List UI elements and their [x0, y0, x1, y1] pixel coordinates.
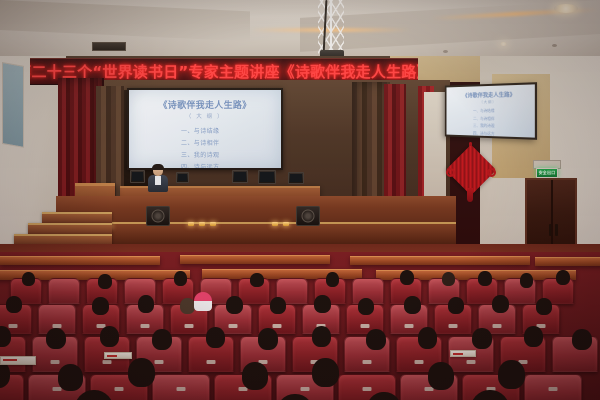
slide-subtitle: （大纲）: [447, 99, 535, 105]
stage-curtain-right: [384, 84, 406, 204]
monitor-screen: [178, 174, 187, 181]
list-item: 四、诗与远方: [181, 162, 219, 168]
slide-title: 《诗歌伴我走人生路》: [129, 98, 281, 111]
monitor-screen: [132, 172, 143, 181]
downlight: [554, 4, 578, 13]
monitor-screen: [260, 172, 274, 182]
lift-post: [330, 0, 332, 56]
monitor-screen: [290, 174, 302, 182]
wall-left-panel: [2, 62, 24, 148]
smoke-detector-icon: [552, 44, 557, 47]
projection-screen-surface: 《诗歌伴我走人生路》 （ 大 纲 ） 一、与诗结缘 二、与诗相伴 三、我的诗观 …: [129, 90, 281, 168]
slide-subtitle: （ 大 纲 ）: [129, 112, 281, 120]
desk-monitor: [176, 172, 189, 183]
chinese-knot-icon: [446, 142, 496, 204]
seated-lecturer: [147, 165, 169, 191]
list-item: 一、与诗结缘: [473, 108, 495, 114]
emergency-exit-sign: 安全出口: [536, 168, 558, 178]
secondary-wall-display: 《诗歌伴我走人生路》 （大纲） 一、与诗结缘 二、与诗相伴 三、我的诗观 四、诗…: [445, 82, 537, 140]
slide-outline-list: 一、与诗结缘 二、与诗相伴 三、我的诗观 四、诗与远方: [181, 126, 219, 168]
air-vent: [92, 42, 126, 51]
knot-tassel: [467, 188, 473, 202]
stage-side-wall-opening: [424, 92, 446, 198]
stage-monitor-speaker: [296, 206, 320, 226]
desk-monitor: [258, 170, 276, 184]
list-item: 三、我的诗观: [181, 150, 219, 159]
stage-footlight: [283, 222, 289, 226]
desk-row: [535, 257, 600, 266]
seat[interactable]: [152, 374, 210, 400]
desk-row: [350, 256, 530, 265]
speaker-cone-icon: [152, 210, 165, 223]
step: [28, 223, 112, 234]
open-notebook: [104, 352, 132, 359]
slide-title: 《诗歌伴我走人生路》: [447, 90, 535, 100]
downlight: [500, 42, 507, 46]
open-notebook: [450, 350, 476, 357]
audience-seating-area: [0, 252, 600, 400]
seat[interactable]: [48, 278, 80, 304]
monitor-screen: [234, 172, 246, 181]
auditorium-photo: 第二十三个“世界读书日”专家主题讲座《诗歌伴我走人生路》 《诗歌伴我走人生路》 …: [0, 0, 600, 400]
door-handle[interactable]: [555, 224, 558, 236]
lecturer-hair: [152, 164, 164, 170]
projector-scissor-lift: [310, 0, 354, 62]
list-item: 一、与诗结缘: [181, 126, 219, 135]
open-notebook: [0, 356, 36, 365]
step: [42, 212, 112, 223]
door-handle[interactable]: [549, 224, 552, 236]
projection-screen: 《诗歌伴我走人生路》 （ 大 纲 ） 一、与诗结缘 二、与诗相伴 三、我的诗观 …: [127, 88, 283, 170]
stage-footlight: [199, 222, 205, 226]
speaker-cone-icon: [302, 210, 315, 223]
desk-row: [0, 256, 160, 265]
desk-monitor: [288, 172, 304, 184]
stage-footlight: [188, 222, 194, 226]
desk-row: [180, 255, 330, 264]
list-item: 二、与诗相伴: [181, 138, 219, 147]
seat[interactable]: [524, 374, 582, 400]
stage-footlight: [272, 222, 278, 226]
audience-person-pink-hat: [194, 292, 212, 311]
list-item: 二、与诗相伴: [473, 115, 495, 121]
stage-footlight: [210, 222, 216, 226]
knot-loop-left: [446, 168, 455, 177]
secondary-display-surface: 《诗歌伴我走人生路》 （大纲） 一、与诗结缘 二、与诗相伴 三、我的诗观 四、诗…: [447, 84, 535, 137]
desk-monitor: [232, 170, 248, 183]
lecturer-shirt: [155, 176, 161, 185]
list-item: 四、诗与远方: [473, 130, 495, 137]
desk-monitor: [130, 170, 145, 183]
slide-outline-list: 一、与诗结缘 二、与诗相伴 三、我的诗观 四、诗与远方: [473, 108, 495, 137]
knot-loop-right: [487, 168, 496, 177]
list-item: 三、我的诗观: [473, 123, 495, 129]
smoke-detector-icon: [443, 50, 448, 53]
stage-monitor-speaker: [146, 206, 170, 226]
exit-sign-label: 安全出口: [539, 170, 556, 176]
